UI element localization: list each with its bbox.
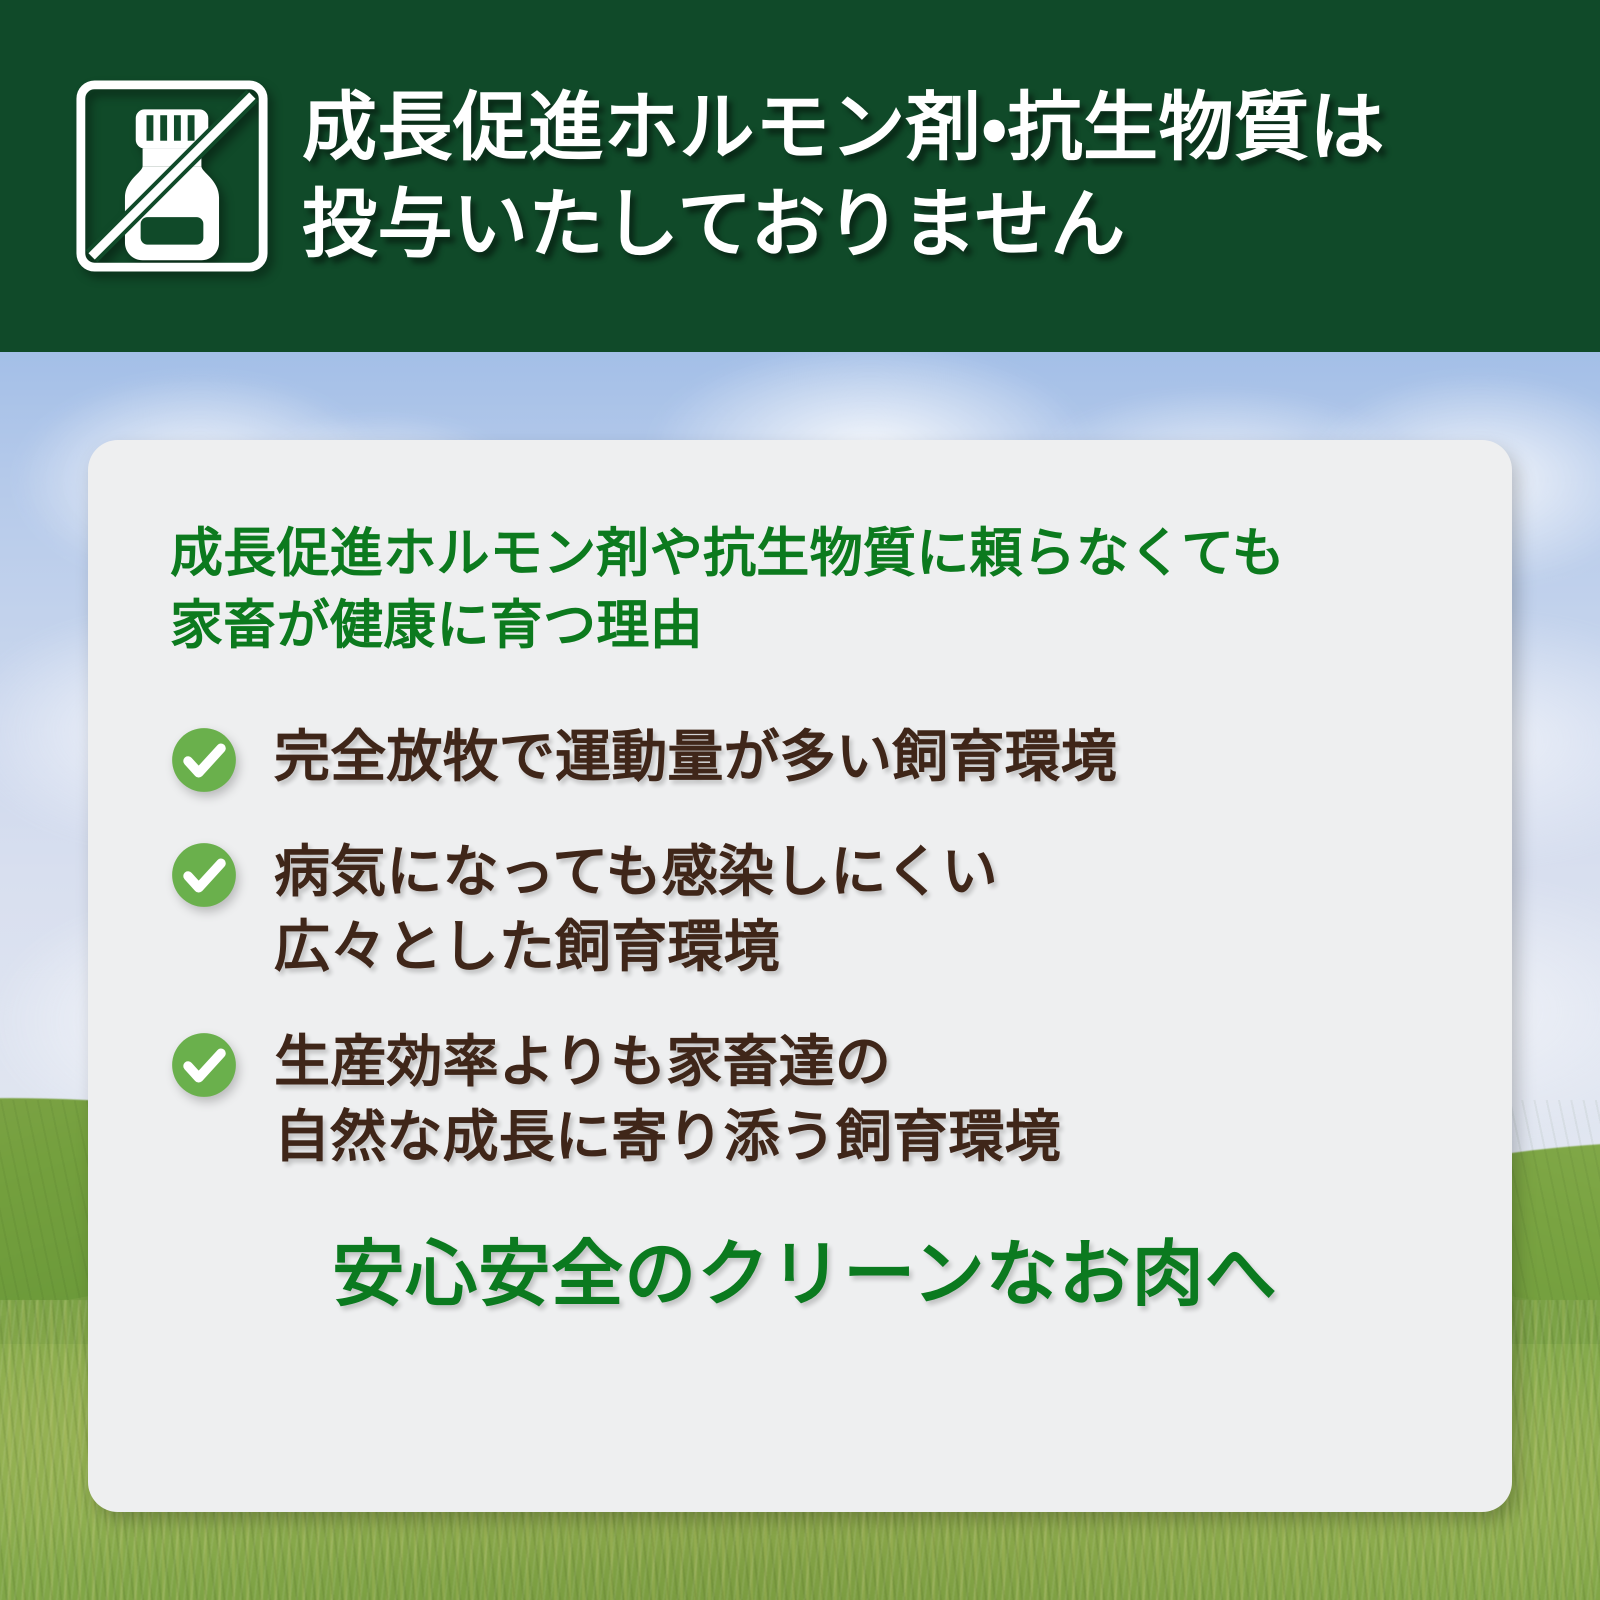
reason-list: 完全放牧で運動量が多い飼育環境 病気になっても感染しにくい 広々とした飼育環境 xyxy=(170,720,1440,1175)
check-circle-icon xyxy=(170,1031,238,1099)
list-item: 完全放牧で運動量が多い飼育環境 xyxy=(170,720,1440,795)
list-item: 生産効率よりも家畜達の 自然な成長に寄り添う飼育環境 xyxy=(170,1025,1440,1175)
list-item: 病気になっても感染しにくい 広々とした飼育環境 xyxy=(170,835,1440,985)
header-band: 成長促進ホルモン剤・抗生物質は 投与いたしておりません xyxy=(0,0,1600,352)
no-medicine-bottle-icon xyxy=(74,78,270,274)
list-item-label: 生産効率よりも家畜達の 自然な成長に寄り添う飼育環境 xyxy=(274,1025,1061,1175)
poster-root: 成長促進ホルモン剤・抗生物質は 投与いたしておりません 成長促進ホルモン剤や抗生… xyxy=(0,0,1600,1600)
list-item-label: 病気になっても感染しにくい 広々とした飼育環境 xyxy=(274,835,998,985)
card-footer-tagline: 安心安全のクリーンなお肉へ xyxy=(170,1215,1440,1320)
list-item-label: 完全放牧で運動量が多い飼育環境 xyxy=(274,720,1117,795)
card-title: 成長促進ホルモン剤や抗生物質に頼らなくても 家畜が健康に育つ理由 xyxy=(170,518,1440,662)
check-circle-icon xyxy=(170,841,238,909)
info-card: 成長促進ホルモン剤や抗生物質に頼らなくても 家畜が健康に育つ理由 完全放牧で運動… xyxy=(88,440,1512,1512)
check-circle-icon xyxy=(170,726,238,794)
header-title: 成長促進ホルモン剤・抗生物質は 投与いたしておりません xyxy=(302,79,1385,274)
